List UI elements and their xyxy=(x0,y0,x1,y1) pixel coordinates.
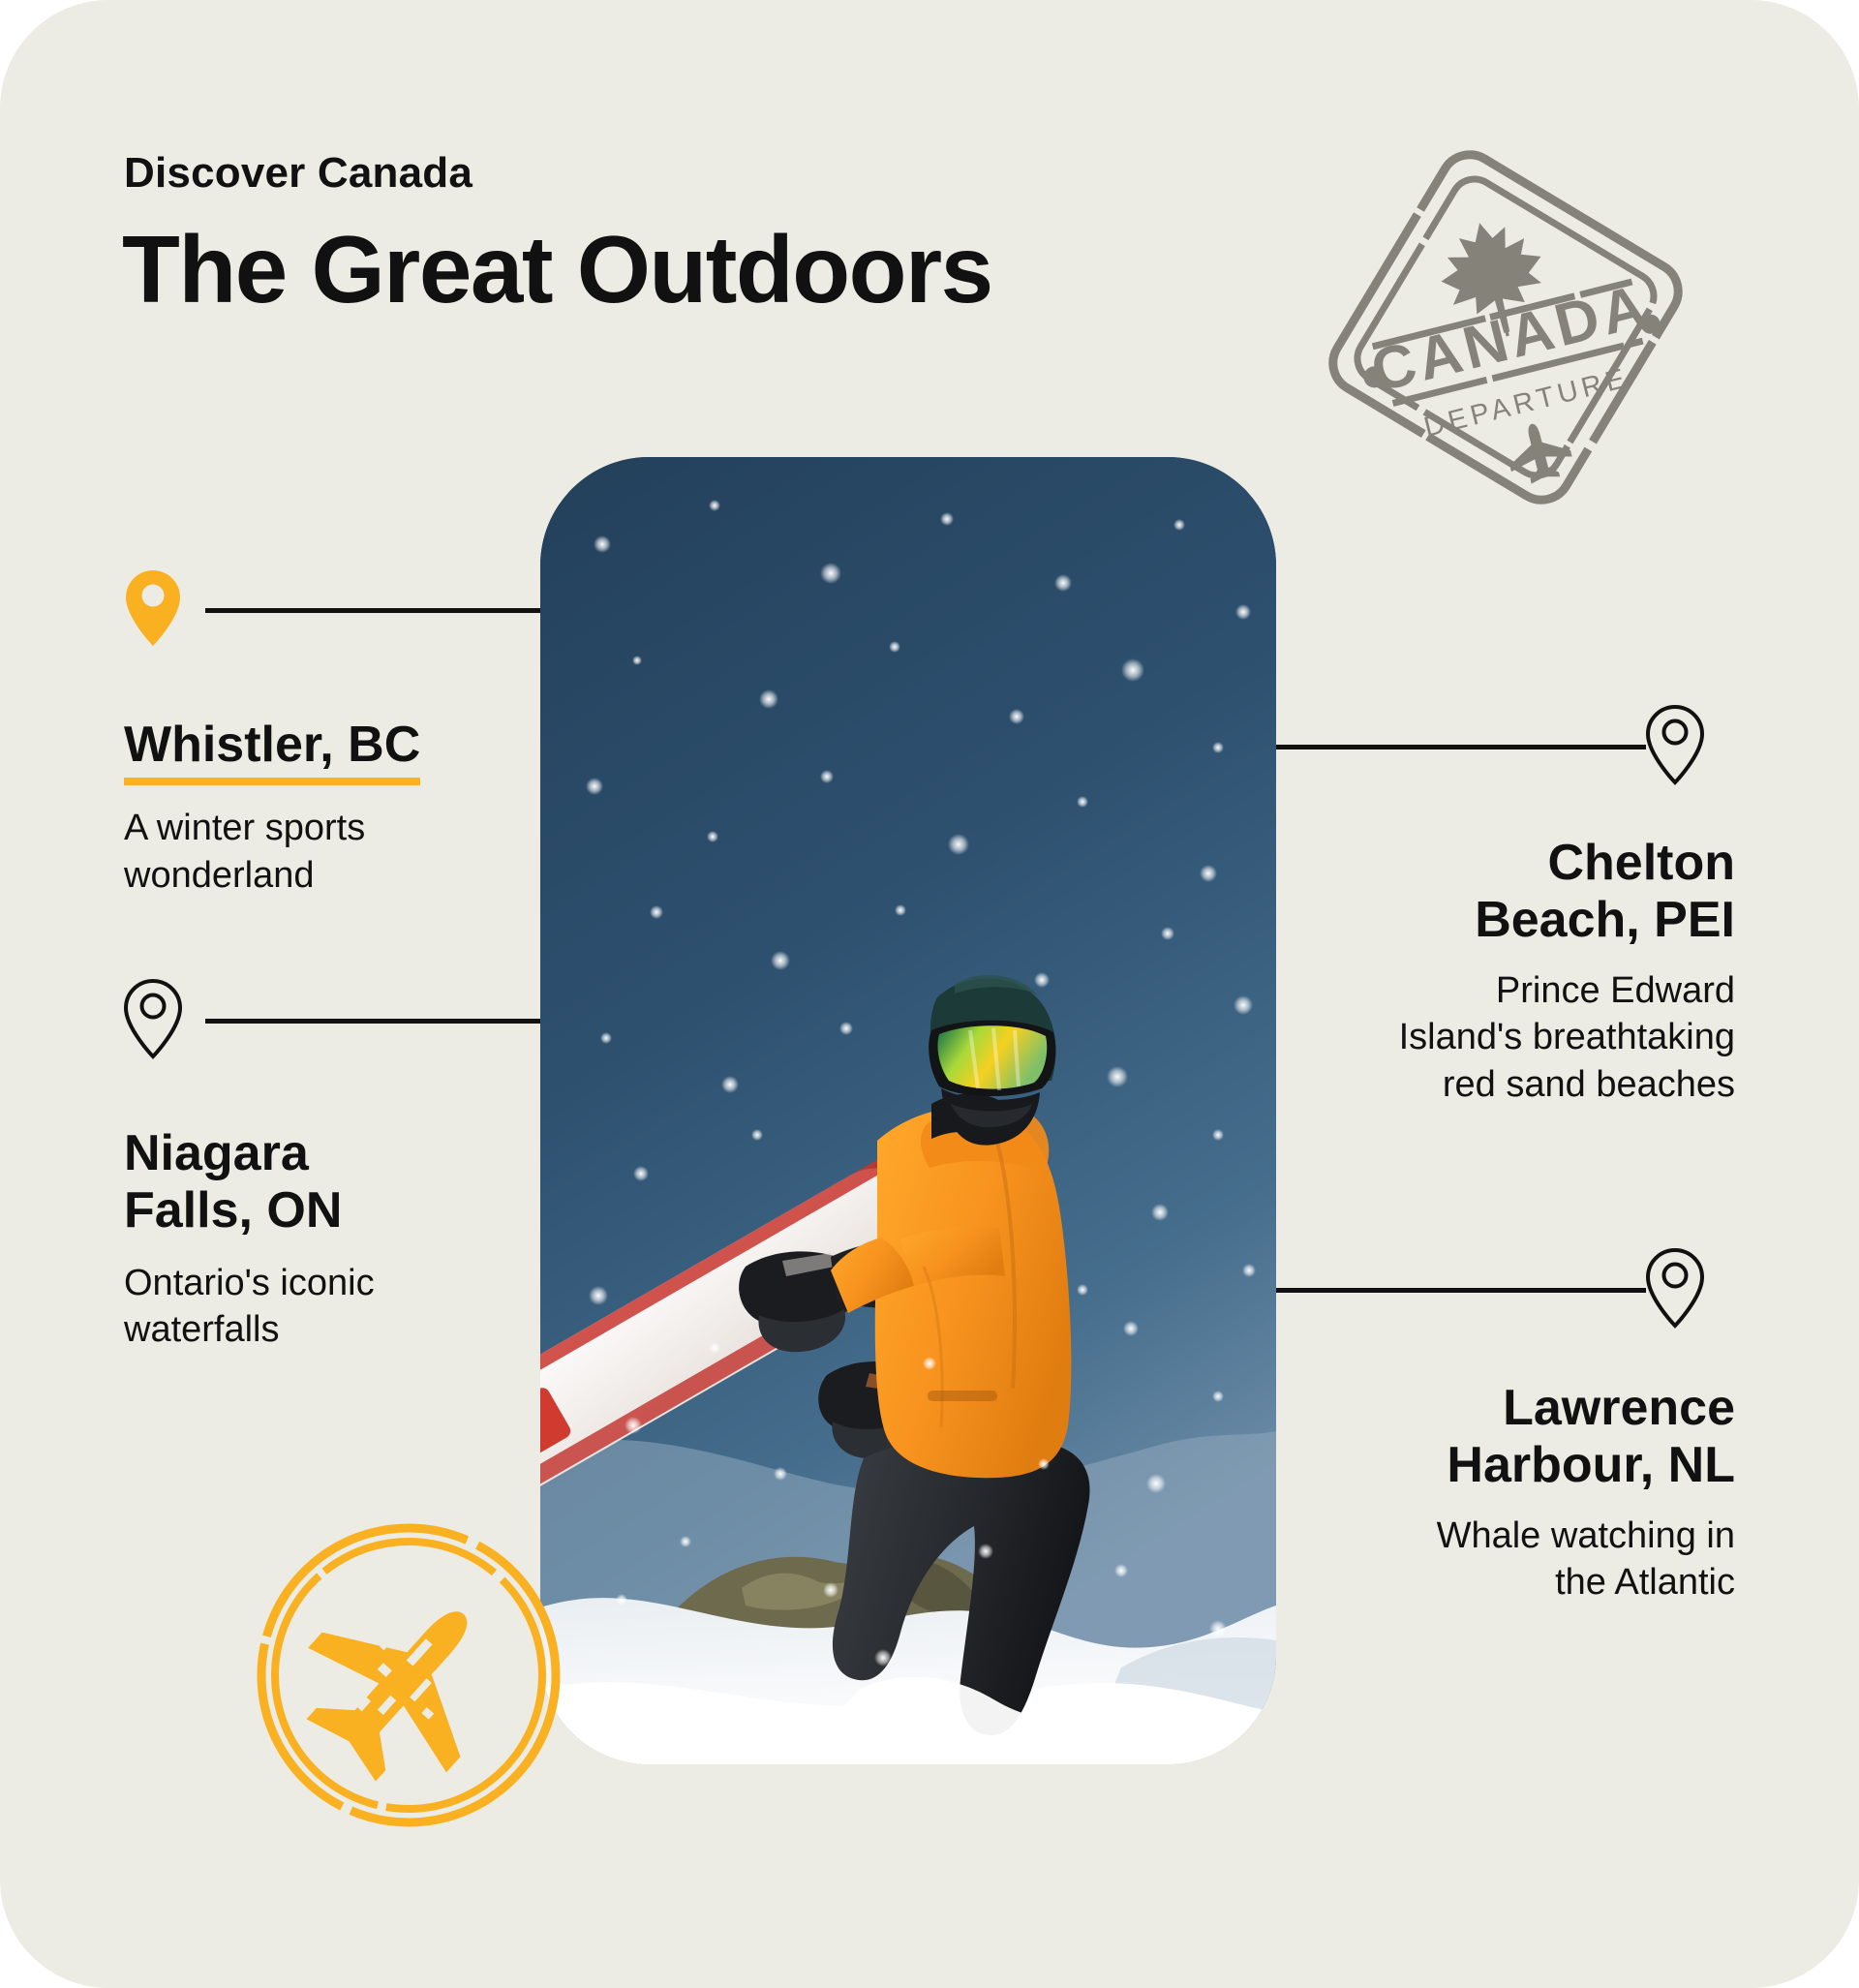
infographic-card: Discover Canada The Great Outdoors xyxy=(0,0,1859,1988)
destination-name: Lawrence Harbour, NL xyxy=(1447,1380,1735,1493)
eyebrow-label: Discover Canada xyxy=(124,149,472,198)
destination-name: Chelton Beach, PEI xyxy=(1475,835,1735,948)
page-title: The Great Outdoors xyxy=(122,215,992,324)
hero-photo xyxy=(540,457,1276,1764)
connector-line-niagara xyxy=(205,1019,540,1024)
destination-name: Whistler, BC xyxy=(124,717,420,785)
connector-line-whistler xyxy=(205,608,540,613)
map-pin-chelton[interactable] xyxy=(1646,704,1704,785)
map-pin-niagara[interactable] xyxy=(124,978,182,1059)
map-pin-whistler[interactable] xyxy=(124,567,182,649)
destination-description: Prince Edward Island's breathtaking red … xyxy=(1317,967,1735,1109)
destination-whistler: Whistler, BC A winter sports wonderland xyxy=(124,717,531,900)
connector-line-lawrence xyxy=(1276,1288,1646,1293)
destination-description: Ontario's iconic waterfalls xyxy=(124,1260,531,1354)
destination-lawrence: Lawrence Harbour, NL Whale watching in t… xyxy=(1317,1380,1735,1606)
destination-description: Whale watching in the Atlantic xyxy=(1317,1513,1735,1606)
destination-description: A winter sports wonderland xyxy=(124,805,531,899)
destination-chelton: Chelton Beach, PEI Prince Edward Island'… xyxy=(1317,835,1735,1108)
connector-line-chelton xyxy=(1276,745,1646,749)
airplane-badge xyxy=(254,1520,564,1830)
canada-departure-stamp: CANADA DEPARTURE xyxy=(1302,124,1709,531)
destination-niagara: Niagara Falls, ON Ontario's iconic water… xyxy=(124,1125,531,1354)
destination-name: Niagara Falls, ON xyxy=(124,1125,342,1239)
map-pin-lawrence[interactable] xyxy=(1646,1247,1704,1329)
